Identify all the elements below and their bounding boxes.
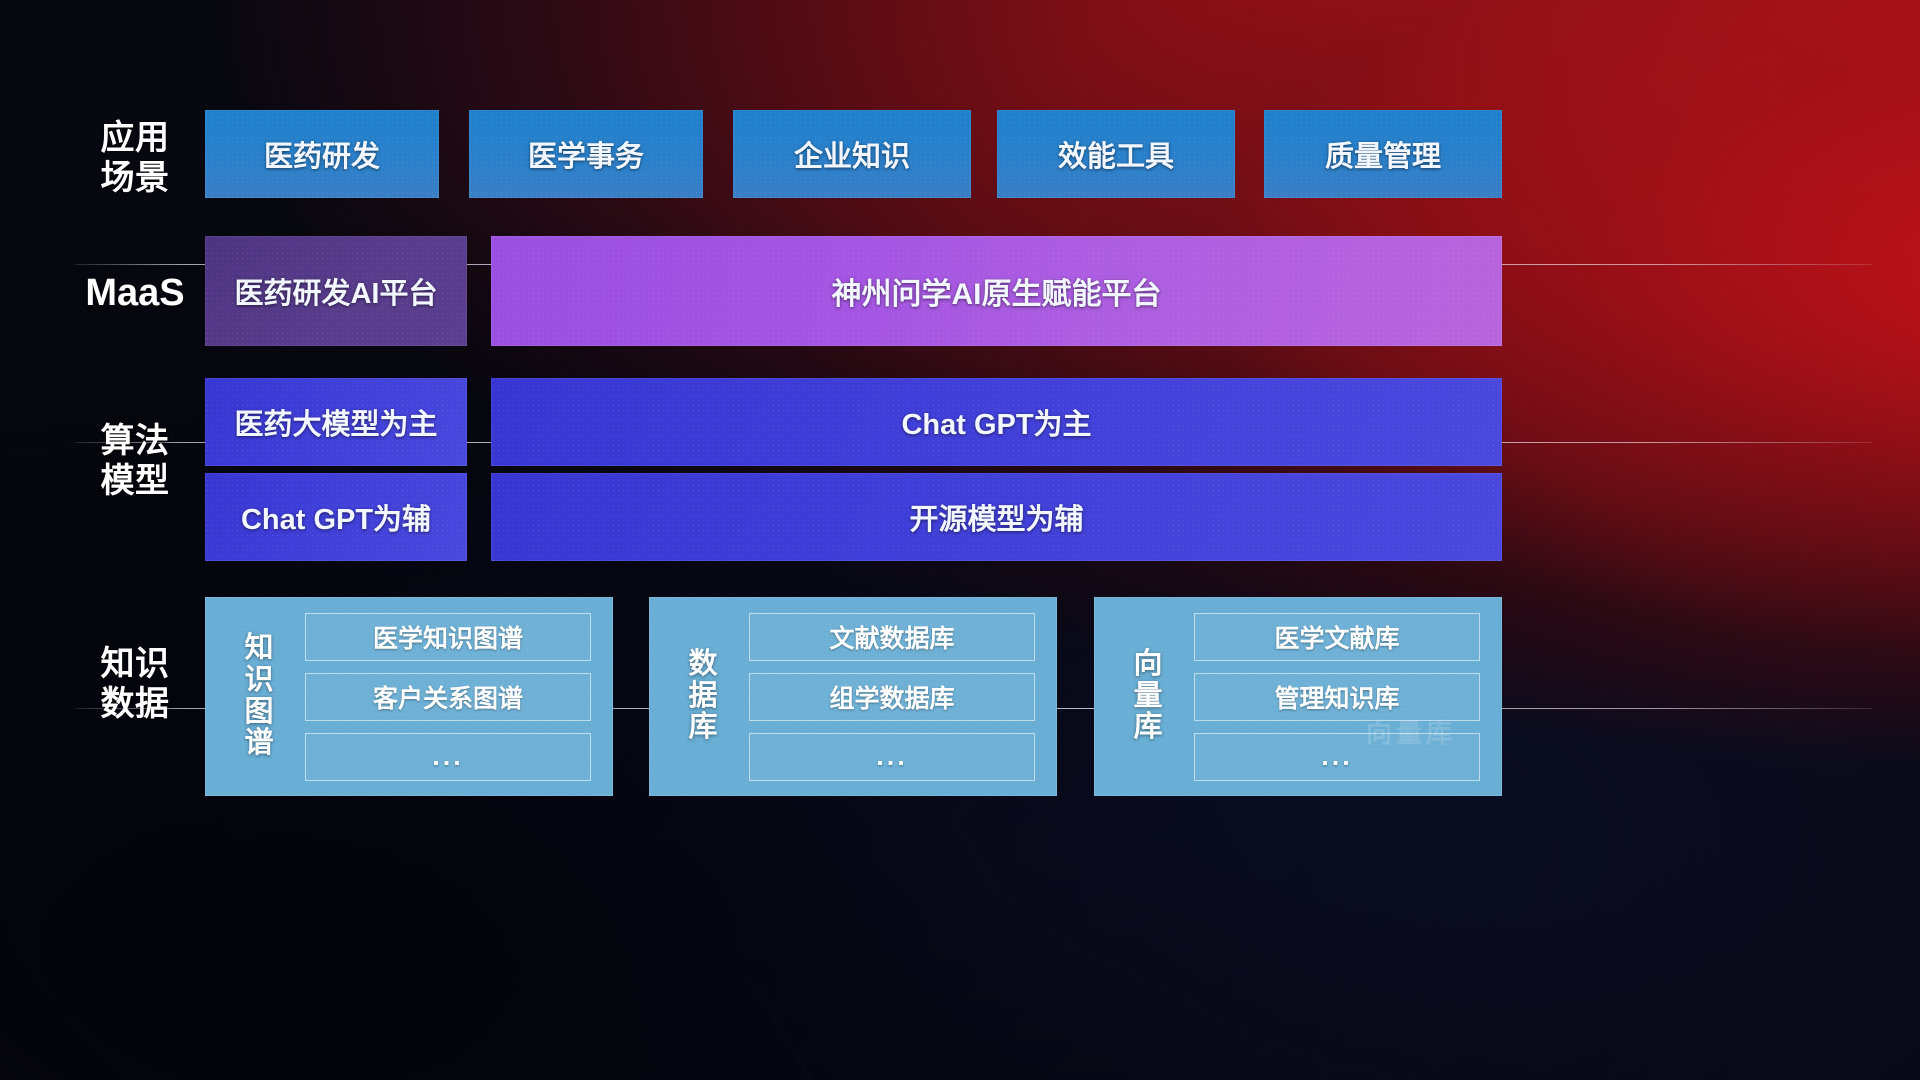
knowledge-panel-items: 医学知识图谱 客户关系图谱 ... <box>305 613 591 781</box>
tier-label-line: 知识 <box>75 644 195 684</box>
app-box-medical-affairs[interactable]: 医学事务 <box>469 110 703 198</box>
knowledge-panel-vertical-label: 知 识 图 谱 <box>231 633 287 761</box>
knowledge-item-more[interactable]: ... <box>1194 733 1480 781</box>
maas-box-medicine-rnd-ai-platform[interactable]: 医药研发AI平台 <box>205 236 467 346</box>
knowledge-panel-vertical-label: 向 量 库 <box>1120 649 1176 745</box>
knowledge-panel-items: 文献数据库 组学数据库 ... <box>749 613 1035 781</box>
knowledge-panel-vertical-label: 数 据 库 <box>675 649 731 745</box>
knowledge-item[interactable]: 文献数据库 <box>749 613 1035 661</box>
tier-label-line: MaaS <box>75 271 195 316</box>
app-box-label: 效能工具 <box>1058 133 1174 175</box>
knowledge-item[interactable]: 医学知识图谱 <box>305 613 591 661</box>
algo-box-label: 医药大模型为主 <box>234 401 437 443</box>
tier-label-line: 场景 <box>75 158 195 198</box>
architecture-diagram: 应用 场景 医药研发 医学事务 企业知识 效能工具 质量管理 MaaS 医药研发… <box>0 0 1920 1080</box>
app-box-enterprise-knowledge[interactable]: 企业知识 <box>733 110 971 198</box>
app-box-label: 医药研发 <box>264 133 380 175</box>
algo-box-chatgpt-primary[interactable]: Chat GPT为主 <box>491 378 1502 466</box>
tier-label-knowledge-data: 知识 数据 <box>75 644 195 724</box>
knowledge-item-more[interactable]: ... <box>305 733 591 781</box>
app-box-quality-management[interactable]: 质量管理 <box>1264 110 1502 198</box>
tier-label-line: 应用 <box>75 118 195 158</box>
vertical-label-char: 量 <box>1133 681 1162 713</box>
maas-box-label: 医药研发AI平台 <box>234 270 437 312</box>
tier-label-line: 数据 <box>75 684 195 724</box>
app-box-label: 质量管理 <box>1325 133 1441 175</box>
maas-box-label: 神州问学AI原生赋能平台 <box>832 269 1162 313</box>
app-box-label: 医学事务 <box>528 133 644 175</box>
vertical-label-char: 向 <box>1133 649 1162 681</box>
vertical-label-char: 数 <box>688 649 717 681</box>
knowledge-item[interactable]: 客户关系图谱 <box>305 673 591 721</box>
algo-box-label: Chat GPT为辅 <box>241 496 431 538</box>
app-box-efficiency-tools[interactable]: 效能工具 <box>997 110 1235 198</box>
vertical-label-char: 识 <box>244 665 273 697</box>
knowledge-item[interactable]: 医学文献库 <box>1194 613 1480 661</box>
maas-box-shenzhou-wenxue-platform[interactable]: 神州问学AI原生赋能平台 <box>491 236 1502 346</box>
knowledge-panel-vector-store[interactable]: 向量库 向 量 库 医学文献库 管理知识库 ... <box>1094 597 1502 796</box>
knowledge-panel-knowledge-graph[interactable]: 知 识 图 谱 医学知识图谱 客户关系图谱 ... <box>205 597 613 796</box>
vertical-label-char: 库 <box>1133 712 1162 744</box>
vertical-label-char: 据 <box>688 681 717 713</box>
algo-box-label: 开源模型为辅 <box>909 496 1083 538</box>
algo-box-medicine-large-model-primary[interactable]: 医药大模型为主 <box>205 378 467 466</box>
knowledge-panel-items: 医学文献库 管理知识库 ... <box>1194 613 1480 781</box>
tier-label-line: 模型 <box>75 461 195 501</box>
vertical-label-char: 库 <box>688 712 717 744</box>
tier-label-algorithm-model: 算法 模型 <box>75 421 195 501</box>
algo-box-opensource-secondary[interactable]: 开源模型为辅 <box>491 473 1502 561</box>
knowledge-panel-database[interactable]: 数 据 库 文献数据库 组学数据库 ... <box>649 597 1057 796</box>
vertical-label-char: 知 <box>244 633 273 665</box>
tier-label-maas: MaaS <box>75 271 195 316</box>
tier-label-line: 算法 <box>75 421 195 461</box>
algo-box-chatgpt-secondary[interactable]: Chat GPT为辅 <box>205 473 467 561</box>
knowledge-item[interactable]: 管理知识库 <box>1194 673 1480 721</box>
knowledge-item-more[interactable]: ... <box>749 733 1035 781</box>
vertical-label-char: 谱 <box>244 728 273 760</box>
app-box-label: 企业知识 <box>794 133 910 175</box>
algo-box-label: Chat GPT为主 <box>901 401 1091 443</box>
tier-label-application-scenario: 应用 场景 <box>75 118 195 198</box>
vertical-label-char: 图 <box>244 697 273 729</box>
knowledge-item[interactable]: 组学数据库 <box>749 673 1035 721</box>
app-box-medicine-rnd[interactable]: 医药研发 <box>205 110 439 198</box>
